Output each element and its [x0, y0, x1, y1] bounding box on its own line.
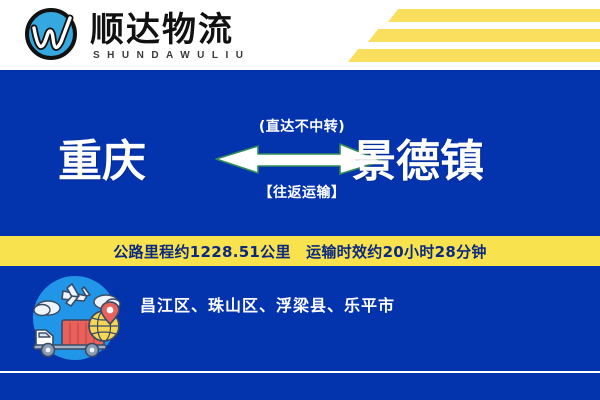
decorative-stripes — [300, 0, 600, 66]
route-note-top: (直达不中转) — [232, 116, 372, 136]
destination-city: 景德镇 — [352, 134, 484, 190]
brand-text-block: 顺达物流 SHUNDAWULIU — [90, 11, 251, 62]
bottom-divider — [0, 371, 600, 373]
coverage-districts: 昌江区、珠山区、浮梁县、乐平市 — [140, 292, 395, 316]
logistics-route-banner: 顺达物流 SHUNDAWULIU 重庆 (直达不中转) 【往返运输】 景德镇 — [0, 0, 600, 400]
banner-header: 顺达物流 SHUNDAWULIU — [0, 0, 600, 70]
banner-body: 重庆 (直达不中转) 【往返运输】 景德镇 公路里程约1228.51公里 运输时… — [0, 70, 600, 400]
info-bar: 公路里程约1228.51公里 运输时效约20小时28分钟 — [0, 236, 600, 266]
origin-city: 重庆 — [58, 134, 146, 190]
route-note-bottom: 【往返运输】 — [232, 182, 372, 202]
brand-name-en: SHUNDAWULIU — [93, 49, 251, 62]
circle-w-swoosh-logo-icon — [22, 6, 82, 66]
logistics-truck-plane-globe-icon — [22, 274, 128, 362]
brand-name-cn: 顺达物流 — [90, 11, 251, 49]
coverage-row: 昌江区、珠山区、浮梁县、乐平市 — [0, 270, 600, 365]
distance-and-duration-text: 公路里程约1228.51公里 运输时效约20小时28分钟 — [113, 241, 486, 262]
brand-logo: 顺达物流 SHUNDAWULIU — [22, 6, 251, 66]
logo-swoosh-icon — [22, 6, 82, 66]
stripe-1 — [388, 9, 600, 22]
route-middle: (直达不中转) 【往返运输】 — [232, 112, 372, 222]
route-row: 重庆 (直达不中转) 【往返运输】 景德镇 — [0, 112, 600, 222]
stripe-3 — [348, 49, 600, 62]
stripe-2 — [368, 29, 600, 42]
